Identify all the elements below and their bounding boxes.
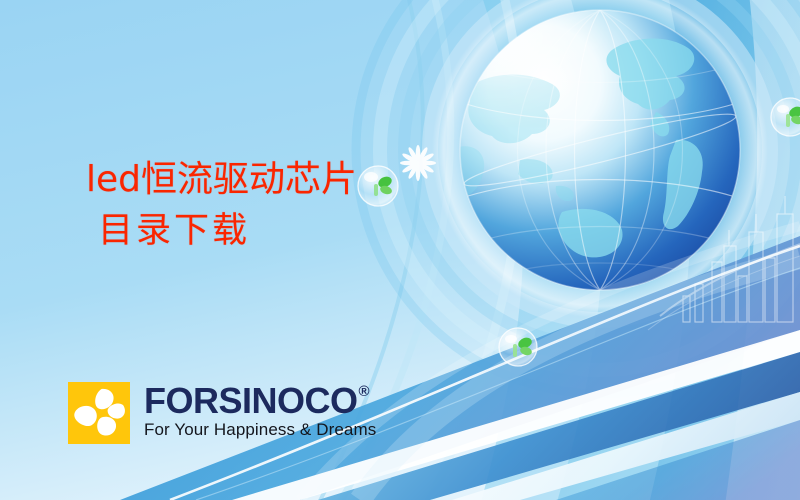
bubble-sprout-icon-2 [499, 328, 537, 366]
registered-trademark-icon: ® [359, 384, 370, 399]
logo-tagline: For Your Happiness & Dreams [144, 421, 376, 438]
logo-text-block: FORSINOCO ® For Your Happiness & Dreams [144, 382, 376, 438]
logo-wordmark: FORSINOCO [144, 383, 358, 418]
headline-block: led恒流驱动芯片 目录下载 [86, 162, 357, 249]
slide-canvas: led恒流驱动芯片 目录下载 FORSINOCO ® [0, 0, 800, 500]
four-petal-flower-icon [68, 382, 130, 444]
headline-line-secondary: 目录下载 [98, 214, 357, 249]
company-logo: FORSINOCO ® For Your Happiness & Dreams [68, 382, 376, 444]
headline-line-primary: led恒流驱动芯片 [86, 162, 357, 198]
logo-wordmark-row: FORSINOCO ® [144, 383, 376, 418]
bubble-sprout-icon-1 [358, 166, 398, 206]
